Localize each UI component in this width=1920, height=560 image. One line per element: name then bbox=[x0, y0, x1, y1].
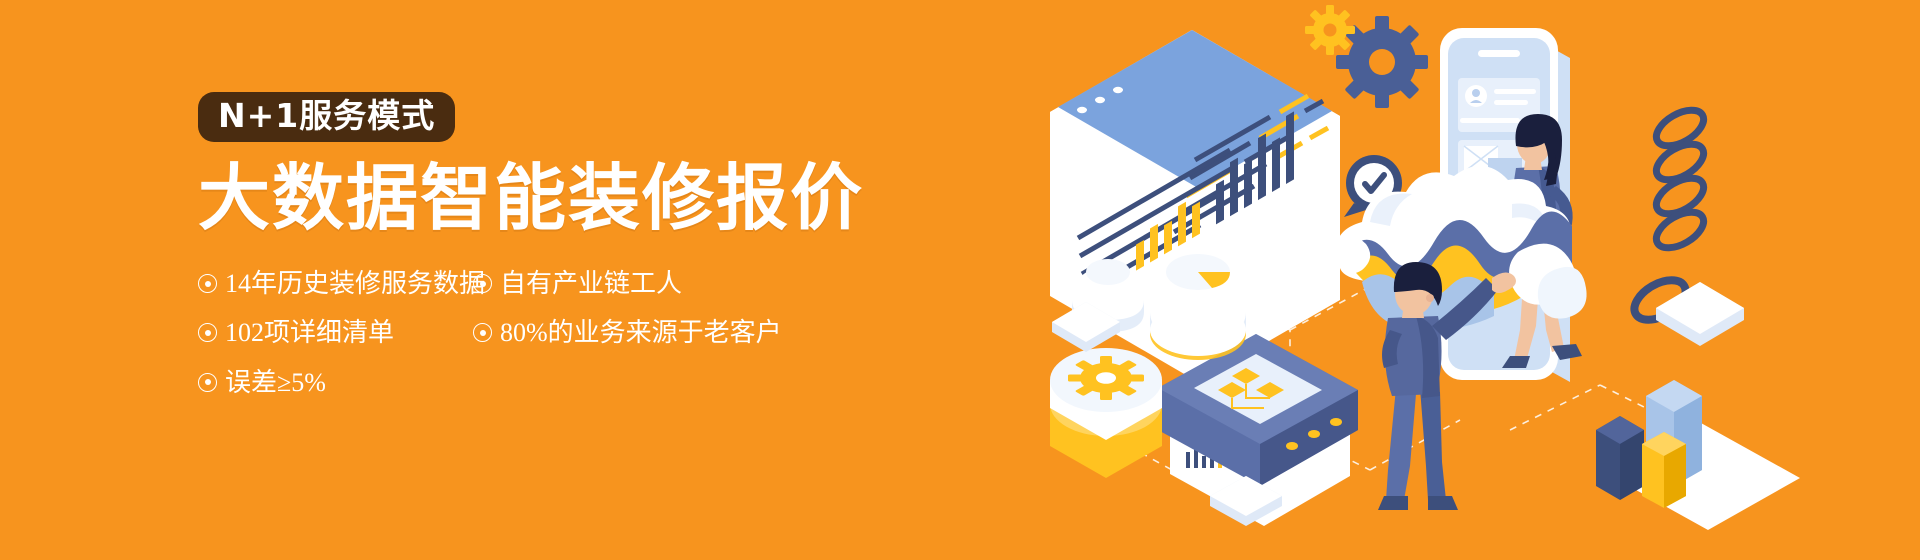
list-item: 误差≥5% bbox=[198, 365, 473, 400]
feature-row: 误差≥5% bbox=[198, 365, 838, 400]
page-title: 大数据智能装修报价 bbox=[198, 160, 898, 236]
feature-row: 14年历史装修服务数据 自有产业链工人 bbox=[198, 266, 838, 301]
list-item: 自有产业链工人 bbox=[473, 266, 682, 301]
circled-dot-icon bbox=[198, 373, 217, 392]
circled-dot-icon bbox=[198, 274, 217, 293]
list-item: 102项详细清单 bbox=[198, 315, 473, 350]
banner-text-block: N+1服务模式 大数据智能装修报价 14年历史装修服务数据 自有产业链工人 10… bbox=[198, 92, 898, 414]
bar-chart-3d bbox=[1596, 380, 1800, 530]
circled-dot-icon bbox=[198, 323, 217, 342]
circled-dot-icon bbox=[473, 274, 492, 293]
floating-tile bbox=[1656, 282, 1744, 346]
circled-dot-icon bbox=[473, 323, 492, 342]
feature-list: 14年历史装修服务数据 自有产业链工人 102项详细清单 80%的业务来源于老客… bbox=[198, 266, 838, 399]
list-item: 80%的业务来源于老客户 bbox=[473, 315, 782, 350]
gear-cylinder-icon bbox=[1050, 348, 1162, 478]
list-item-label: 14年历史装修服务数据 bbox=[225, 266, 485, 301]
list-item-label: 102项详细清单 bbox=[225, 315, 394, 350]
feature-row: 102项详细清单 80%的业务来源于老客户 bbox=[198, 315, 838, 350]
ring-stack-icon bbox=[1650, 103, 1709, 255]
isometric-big-data-illustration bbox=[1040, 0, 1920, 560]
promo-banner: N+1服务模式 大数据智能装修报价 14年历史装修服务数据 自有产业链工人 10… bbox=[0, 0, 1920, 560]
list-item: 14年历史装修服务数据 bbox=[198, 266, 473, 301]
service-model-badge: N+1服务模式 bbox=[198, 92, 455, 142]
list-item-label: 自有产业链工人 bbox=[500, 266, 682, 301]
list-item-label: 误差≥5% bbox=[225, 365, 326, 400]
list-item-label: 80%的业务来源于老客户 bbox=[500, 315, 782, 350]
gear-icon bbox=[1068, 356, 1144, 400]
gear-small-icon bbox=[1305, 5, 1355, 55]
